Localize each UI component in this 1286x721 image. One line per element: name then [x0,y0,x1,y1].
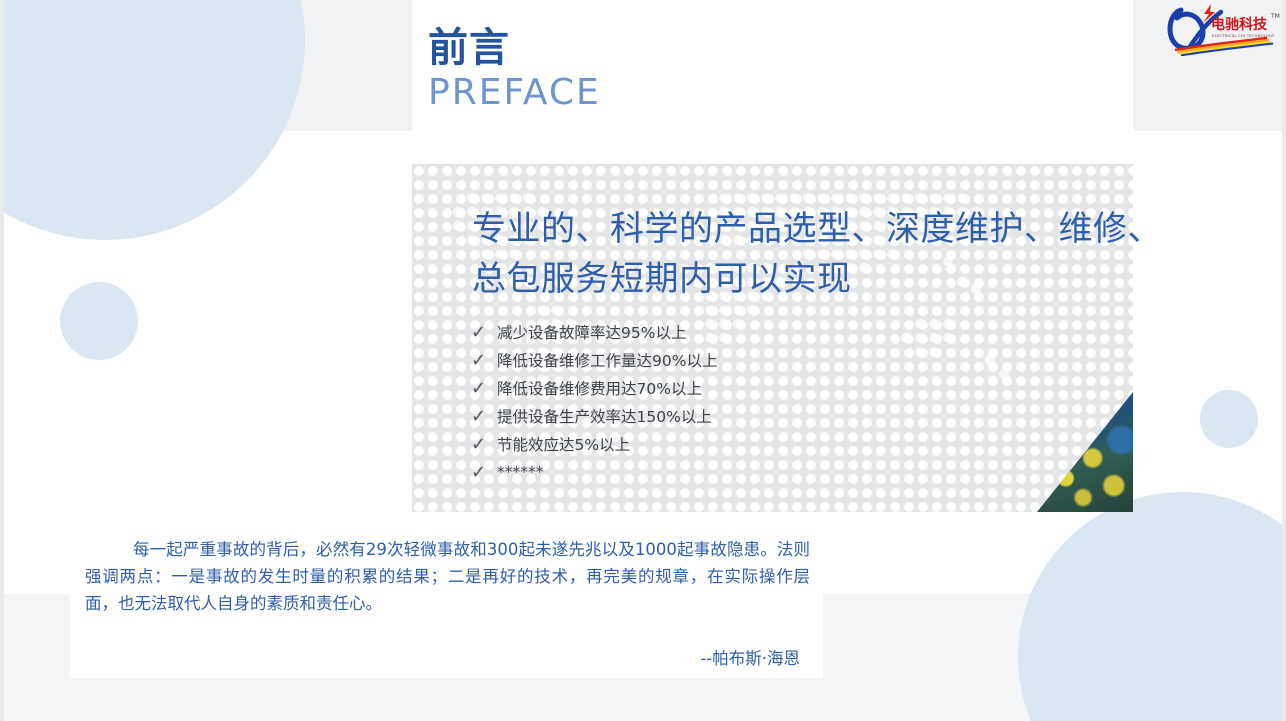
logo-trademark: TM [1270,13,1280,20]
quote-body-text: 每一起严重事故的背后，必然有29次轻微事故和300起未遂先兆以及1000起事故隐… [85,536,810,617]
left-edge-strip [0,0,4,721]
list-item: ✓ 提供设备生产效率达150%以上 [471,402,717,430]
list-item: ✓ ****** [471,458,717,486]
map-region-oceania [901,319,1009,379]
logo-d-mark [1170,10,1203,48]
list-item-label: ****** [497,463,544,481]
list-item: ✓ 减少设备故障率达95%以上 [471,318,717,346]
benefits-list: ✓ 减少设备故障率达95%以上 ✓ 降低设备维修工作量达90%以上 ✓ 降低设备… [471,318,717,486]
company-logo: 电驰科技 ELECTRICAL CHI TECHNOLOGY TM [1163,2,1281,56]
logo-text-cn: 电驰科技 [1211,16,1268,33]
decorative-circle-bottom-right [1018,492,1286,721]
check-icon: ✓ [471,322,497,343]
quote-attribution: --帕布斯·海恩 [85,645,800,669]
list-item: ✓ 降低设备维修工作量达90%以上 [471,346,717,374]
logo-svg: 电驰科技 ELECTRICAL CHI TECHNOLOGY TM [1163,2,1281,56]
decorative-circle-top-left [0,0,305,240]
logo-text-en: ELECTRICAL CHI TECHNOLOGY [1212,34,1275,38]
list-item-label: 节能效应达5%以上 [497,433,630,455]
list-item-label: 降低设备维修工作量达90%以上 [497,349,717,371]
list-item: ✓ 降低设备维修费用达70%以上 [471,374,717,402]
check-icon: ✓ [471,462,497,483]
page-title-cn: 前言 [428,26,510,70]
list-item-label: 减少设备故障率达95%以上 [497,321,686,343]
page-title-en: PREFACE [428,72,601,114]
right-edge-strip [1282,0,1286,721]
decorative-circle-left-small [60,282,138,360]
check-icon: ✓ [471,434,497,455]
list-item-label: 降低设备维修费用达70%以上 [497,377,702,399]
slide-canvas: 前言 PREFACE 电驰科技 ELECTRICAL CHI TECHNOLOG… [0,0,1286,721]
check-icon: ✓ [471,378,497,399]
check-icon: ✓ [471,350,497,371]
list-item-label: 提供设备生产效率达150%以上 [497,405,712,427]
content-headline: 专业的、科学的产品选型、深度维护、维修、总包服务短期内可以实现 [472,204,1172,304]
decorative-circle-right-small [1200,390,1258,448]
list-item: ✓ 节能效应达5%以上 [471,430,717,458]
check-icon: ✓ [471,406,497,427]
